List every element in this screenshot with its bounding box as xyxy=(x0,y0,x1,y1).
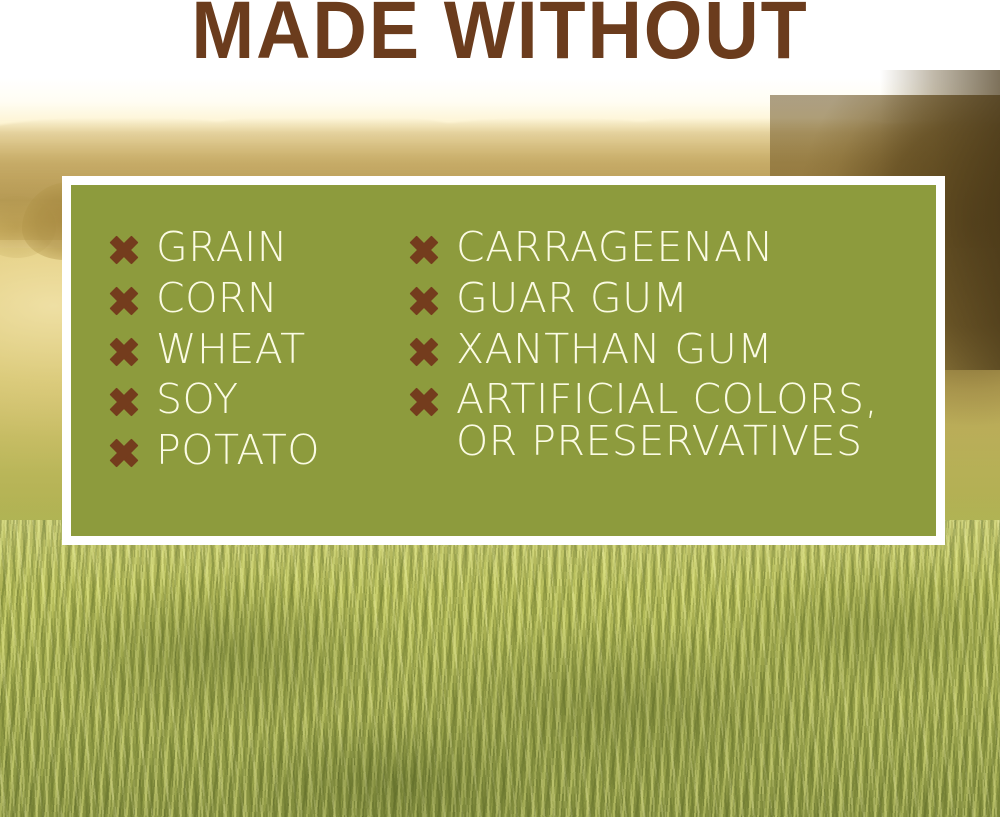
exclusion-column-right: CARRAGEENAN GUAR GUM XANTHAN GUM ARTIFIC… xyxy=(409,227,936,536)
list-item-label: GUAR GUM xyxy=(456,278,689,320)
x-mark-icon xyxy=(409,286,439,316)
list-item-label: POTATO xyxy=(156,430,320,472)
list-item: GUAR GUM xyxy=(409,278,936,320)
x-mark-icon xyxy=(109,387,139,417)
x-mark-icon xyxy=(109,235,139,265)
x-mark-icon xyxy=(409,387,439,417)
list-item: CORN xyxy=(109,278,409,320)
foreground-grass xyxy=(0,520,1000,817)
list-item: XANTHAN GUM xyxy=(409,329,936,371)
made-without-panel-inner: GRAIN CORN WHEAT SOY xyxy=(71,185,936,536)
list-item: SOY xyxy=(109,379,409,421)
grass-shading xyxy=(0,520,1000,817)
x-mark-icon xyxy=(109,337,139,367)
list-item-label: WHEAT xyxy=(156,329,306,371)
list-item-label: CORN xyxy=(156,278,278,320)
exclusion-columns: GRAIN CORN WHEAT SOY xyxy=(71,185,936,536)
exclusion-column-left: GRAIN CORN WHEAT SOY xyxy=(109,227,409,536)
list-item: ARTIFICIAL COLORS, OR PRESERVATIVES xyxy=(409,379,936,463)
list-item: WHEAT xyxy=(109,329,409,371)
list-item: GRAIN xyxy=(109,227,409,269)
list-item: CARRAGEENAN xyxy=(409,227,936,269)
list-item-label: ARTIFICIAL COLORS, OR PRESERVATIVES xyxy=(456,379,878,463)
list-item-label: GRAIN xyxy=(156,227,288,269)
x-mark-icon xyxy=(109,286,139,316)
list-item: POTATO xyxy=(109,430,409,472)
list-item-label: CARRAGEENAN xyxy=(456,227,774,269)
list-item-label: SOY xyxy=(156,379,239,421)
promo-graphic: MADE WITHOUT GRAIN CORN WHEAT xyxy=(0,0,1000,817)
x-mark-icon xyxy=(109,438,139,468)
x-mark-icon xyxy=(409,337,439,367)
list-item-label: XANTHAN GUM xyxy=(456,329,773,371)
made-without-panel: GRAIN CORN WHEAT SOY xyxy=(62,176,945,545)
page-title: MADE WITHOUT xyxy=(40,0,960,72)
x-mark-icon xyxy=(409,235,439,265)
